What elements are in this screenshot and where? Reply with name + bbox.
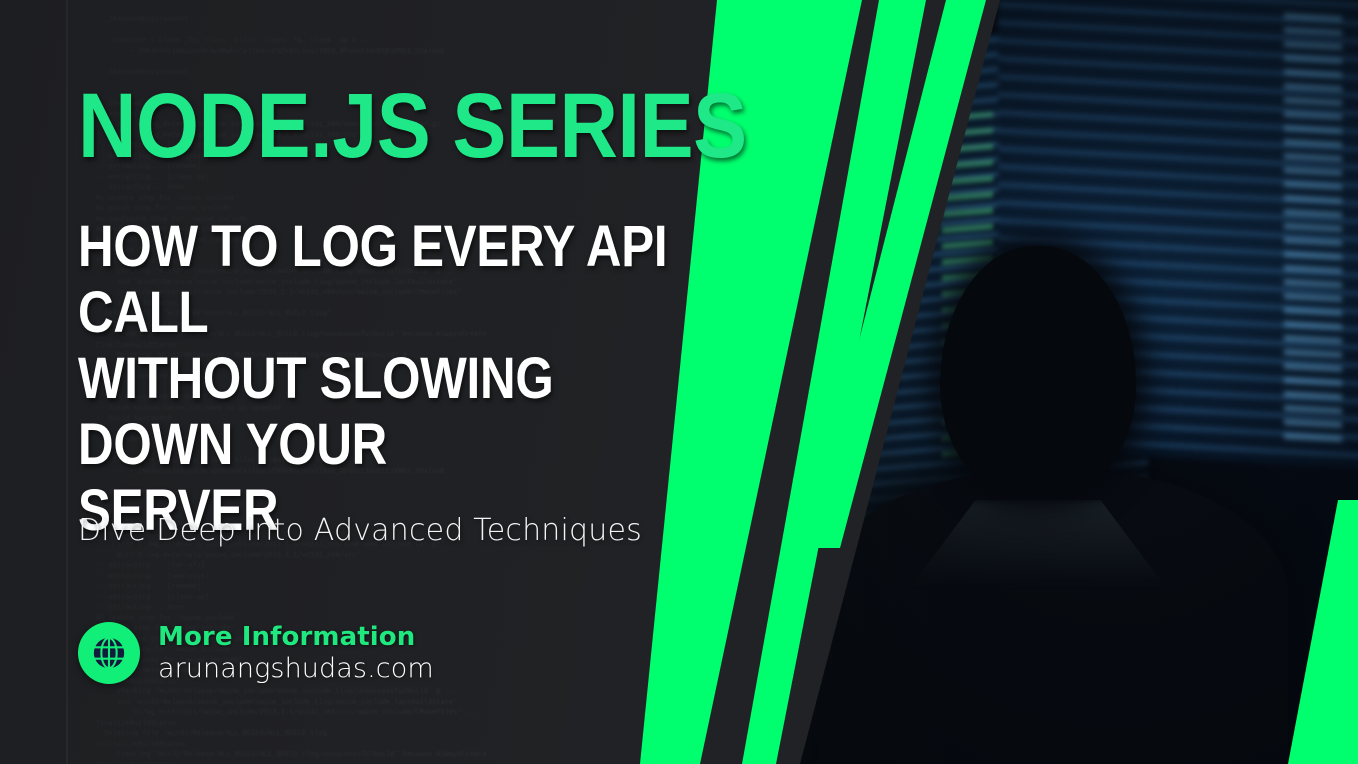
website-domain-link[interactable]: arunangshudas.com (158, 655, 434, 682)
globe-icon (78, 622, 140, 684)
page-title: NODE.JS SERIES (78, 78, 747, 174)
more-information-label: More Information (158, 624, 434, 650)
banner-root: _ZN4node8Environment ... template < clas… (0, 0, 1358, 764)
photo-vignette-overlay (758, 0, 1358, 764)
tagline: Dive Deep into Advanced Techniques (78, 512, 642, 550)
developer-photo (758, 0, 1358, 764)
headline: HOW TO LOG EVERY API CALL WITHOUT SLOWIN… (78, 214, 673, 544)
content-block: NODE.JS SERIES HOW TO LOG EVERY API CALL… (78, 0, 718, 764)
footer-contact: More Information arunangshudas.com (78, 622, 434, 684)
headline-line-2: WITHOUT SLOWING DOWN YOUR (78, 346, 553, 477)
footer-text-group: More Information arunangshudas.com (158, 624, 434, 682)
headline-line-1: HOW TO LOG EVERY API CALL (78, 214, 667, 345)
